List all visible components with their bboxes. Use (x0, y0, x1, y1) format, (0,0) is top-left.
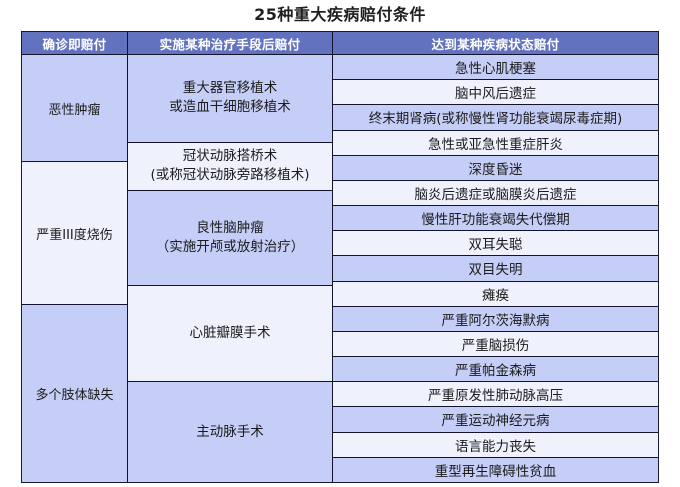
condition-cell-label: 重型再生障碍性贫血 (435, 460, 557, 480)
condition-cell: 瘫痪 (333, 282, 658, 307)
condition-cell: 严重脑损伤 (333, 332, 658, 357)
table-header-row: 确诊即赔付 实施某种治疗手段后赔付 达到某种疾病状态赔付 (22, 32, 658, 55)
treatment-cell-line2: (或称冠状动脉旁路移植术) (150, 166, 309, 185)
treatment-cell-line1: 心脏瓣膜手术 (190, 324, 271, 343)
column-header-condition: 达到某种疾病状态赔付 (333, 32, 658, 54)
treatment-cell: 重大器官移植术或造血干细胞移植术 (128, 55, 332, 143)
column-header-treatment: 实施某种治疗手段后赔付 (128, 32, 333, 54)
condition-cell-label: 严重帕金森病 (455, 359, 536, 379)
treatment-cell-line2: 或造血干细胞移植术 (169, 98, 291, 117)
condition-cell-label: 严重运动神经元病 (442, 409, 550, 429)
diagnosis-cell: 恶性肿瘤 (22, 55, 127, 162)
diagnosis-cell-label: 恶性肿瘤 (48, 99, 100, 118)
diagnosis-cell-label: 严重III度烧伤 (36, 224, 113, 243)
treatment-cell-line1: 重大器官移植术 (169, 79, 291, 98)
condition-cell: 语言能力丧失 (333, 433, 658, 458)
condition-cell-label: 急性心肌梗塞 (455, 57, 536, 77)
condition-cell-label: 瘫痪 (482, 284, 509, 304)
condition-cell-label: 深度昏迷 (469, 158, 523, 178)
condition-cell-label: 脑中风后遗症 (455, 82, 536, 102)
diagnosis-cell: 多个肢体缺失 (22, 305, 127, 482)
condition-cell: 脑中风后遗症 (333, 80, 658, 105)
condition-cell-label: 严重脑损伤 (462, 334, 530, 354)
condition-cell: 急性心肌梗塞 (333, 55, 658, 80)
condition-cell-label: 严重原发性肺动脉高压 (428, 384, 563, 404)
condition-cell: 严重阿尔茨海默病 (333, 307, 658, 332)
condition-cell-label: 急性或亚急性重症肝炎 (428, 133, 563, 153)
treatment-cell: 心脏瓣膜手术 (128, 286, 332, 383)
condition-cell: 急性或亚急性重症肝炎 (333, 131, 658, 156)
condition-cell: 严重帕金森病 (333, 357, 658, 382)
benefits-table: 确诊即赔付 实施某种治疗手段后赔付 达到某种疾病状态赔付 恶性肿瘤严重III度烧… (21, 31, 659, 483)
condition-cell-label: 语言能力丧失 (455, 435, 536, 455)
condition-cell-label: 终末期肾病(或称慢性肾功能衰竭尿毒症期) (369, 107, 623, 127)
treatment-cell: 主动脉手术 (128, 382, 332, 482)
treatment-cell-line1: 主动脉手术 (196, 423, 264, 442)
condition-cell-label: 双目失明 (469, 258, 523, 278)
diagnosis-cell-label: 多个肢体缺失 (35, 384, 113, 403)
table-body: 恶性肿瘤严重III度烧伤多个肢体缺失 重大器官移植术或造血干细胞移植术冠状动脉搭… (22, 55, 658, 482)
diagnosis-cell: 严重III度烧伤 (22, 162, 127, 305)
column-diagnosis: 恶性肿瘤严重III度烧伤多个肢体缺失 (22, 55, 128, 482)
condition-cell: 双耳失聪 (333, 231, 658, 256)
treatment-cell: 良性脑肿瘤（实施开颅或放射治疗） (128, 191, 332, 286)
condition-cell: 慢性肝功能衰竭失代偿期 (333, 206, 658, 231)
condition-cell-label: 双耳失聪 (469, 233, 523, 253)
condition-cell-label: 严重阿尔茨海默病 (442, 309, 550, 329)
treatment-cell-line2: （实施开颅或放射治疗） (156, 238, 305, 257)
condition-cell-label: 慢性肝功能衰竭失代偿期 (421, 208, 570, 228)
treatment-cell: 冠状动脉搭桥术(或称冠状动脉旁路移植术) (128, 143, 332, 191)
condition-cell: 双目失明 (333, 256, 658, 281)
condition-cell: 严重运动神经元病 (333, 407, 658, 432)
condition-cell: 严重原发性肺动脉高压 (333, 382, 658, 407)
condition-cell: 终末期肾病(或称慢性肾功能衰竭尿毒症期) (333, 105, 658, 130)
condition-cell-label: 脑炎后遗症或脑膜炎后遗症 (415, 183, 577, 203)
page-root: 25种重大疾病赔付条件 确诊即赔付 实施某种治疗手段后赔付 达到某种疾病状态赔付… (0, 0, 680, 487)
condition-cell: 重型再生障碍性贫血 (333, 458, 658, 482)
condition-cell: 脑炎后遗症或脑膜炎后遗症 (333, 181, 658, 206)
column-header-diagnosis: 确诊即赔付 (22, 32, 128, 54)
page-title: 25种重大疾病赔付条件 (0, 3, 680, 27)
condition-cell: 深度昏迷 (333, 156, 658, 181)
column-treatment: 重大器官移植术或造血干细胞移植术冠状动脉搭桥术(或称冠状动脉旁路移植术)良性脑肿… (128, 55, 333, 482)
treatment-cell-line1: 良性脑肿瘤 (156, 219, 305, 238)
treatment-cell-line1: 冠状动脉搭桥术 (150, 147, 309, 166)
column-condition: 急性心肌梗塞脑中风后遗症终末期肾病(或称慢性肾功能衰竭尿毒症期)急性或亚急性重症… (333, 55, 658, 482)
